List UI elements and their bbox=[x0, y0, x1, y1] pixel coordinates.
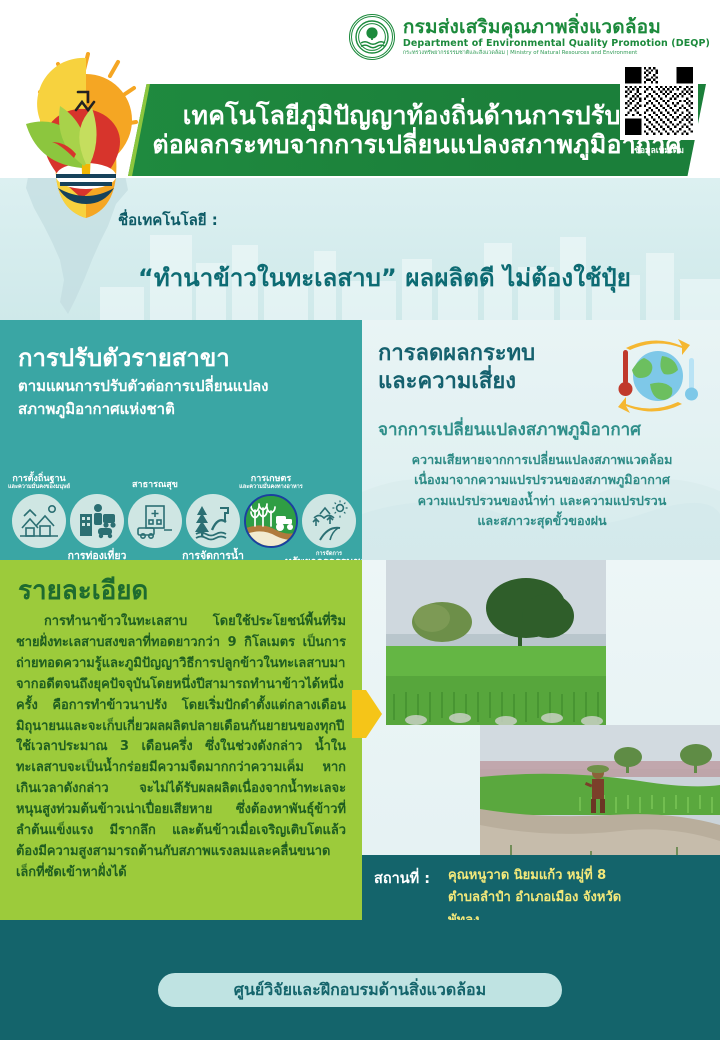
hospital-ambulance-icon bbox=[128, 494, 182, 548]
sector-panel-subheading: ตามแผนการปรับตัวต่อการเปลี่ยนแปลง สภาพภู… bbox=[18, 375, 348, 422]
pointer-arrow-icon bbox=[352, 690, 382, 738]
org-name-english: Department of Environmental Quality Prom… bbox=[403, 39, 710, 49]
sector-item-natural-resources[interactable]: การจัดการ ทรัพยากรธรรมชาติ bbox=[302, 494, 356, 548]
details-paragraph: การทำนาข้าวในทะเลสาบ โดยใช้ประโยชน์พื้นท… bbox=[16, 612, 346, 884]
deqp-tree-water-seal-icon bbox=[349, 14, 395, 60]
natural-resources-icon bbox=[302, 494, 356, 548]
village-settlement-icon bbox=[12, 494, 66, 548]
sector-adaptation-panel: การปรับตัวรายสาขา ตามแผนการปรับตัวต่อการ… bbox=[0, 320, 362, 560]
mitigation-body-line3: ความแปรปรวนของน้ำท่า และความแปรปรวน bbox=[372, 491, 712, 511]
mitigation-heading: การลดผลกระทบ และความเสี่ยง bbox=[378, 340, 588, 395]
city-tourism-icon bbox=[70, 494, 124, 548]
poster-root: กรมส่งเสริมคุณภาพสิ่งแวดล้อม Department … bbox=[0, 0, 720, 1040]
sector-label-public-health: สาธารณสุข bbox=[132, 480, 178, 490]
mitigation-body-text: ความเสียหายจากการเปลี่ยนแปลงสภาพแวดล้อม … bbox=[372, 450, 712, 532]
sector-label-water-management: การจัดการน้ำ bbox=[182, 551, 244, 560]
footer-organization-pill: ศูนย์วิจัยและฝึกอบรมด้านสิ่งแวดล้อม bbox=[158, 973, 562, 1007]
mitigation-subheading: จากการเปลี่ยนแปลงสภาพภูมิอากาศ bbox=[378, 416, 641, 443]
main-title-line2: ต่อผลกระทบจากการเปลี่ยนแปลงสภาพภูมิอากาศ bbox=[152, 130, 681, 160]
qr-caption: ข้อมูลเพิ่มเติม bbox=[620, 143, 698, 157]
details-panel: รายละเอียด การทำนาข้าวในทะเลสาบ โดยใช้ปร… bbox=[0, 560, 362, 920]
blue-thermometer bbox=[685, 358, 698, 401]
sector-item-settlement[interactable]: การตั้งถิ่นฐาน และความมั่นคงของมนุษย์ bbox=[12, 494, 66, 548]
main-title-line1: เทคโนโลยีภูมิปัญญาท้องถิ่นด้านการปรับตัว bbox=[183, 101, 651, 131]
qr-code-icon[interactable] bbox=[620, 62, 698, 140]
org-name-thai: กรมส่งเสริมคุณภาพสิ่งแวดล้อม bbox=[403, 18, 710, 38]
sector-label-agriculture: การเกษตร และความมั่นคงทางอาหาร bbox=[239, 474, 303, 490]
sector-item-tourism[interactable]: การท่องเที่ยว bbox=[70, 494, 124, 548]
sector-label-settlement: การตั้งถิ่นฐาน และความมั่นคงของมนุษย์ bbox=[8, 474, 70, 490]
agriculture-farm-icon bbox=[244, 494, 298, 548]
deqp-logo-text: กรมส่งเสริมคุณภาพสิ่งแวดล้อม Department … bbox=[403, 18, 710, 57]
mitigation-heading-line1: การลดผลกระทบ bbox=[378, 341, 535, 366]
mitigation-body-line2: เนื่องมาจากความแปรปรวนของสภาพภูมิอากาศ bbox=[372, 470, 712, 490]
sector-icon-strip: การตั้งถิ่นฐาน และความมั่นคงของมนุษย์ bbox=[8, 468, 360, 554]
footer-band: ศูนย์วิจัยและฝึกอบรมด้านสิ่งแวดล้อม bbox=[0, 920, 720, 1040]
footer-organization-label: ศูนย์วิจัยและฝึกอบรมด้านสิ่งแวดล้อม bbox=[234, 978, 486, 1003]
technology-name: “ทำนาข้าวในทะเลสาบ” ผลผลิตดี ไม่ต้องใช้ป… bbox=[138, 258, 631, 297]
sector-item-public-health[interactable]: สาธารณสุข bbox=[128, 494, 182, 548]
water-management-icon bbox=[186, 494, 240, 548]
red-thermometer bbox=[619, 350, 633, 396]
deqp-logo: กรมส่งเสริมคุณภาพสิ่งแวดล้อม Department … bbox=[349, 14, 710, 60]
location-label: สถานที่ : bbox=[374, 867, 430, 890]
sector-panel-sub-line2: สภาพภูมิอากาศแห่งชาติ bbox=[18, 398, 348, 421]
lightbulb-leaf-map-pin-icon bbox=[14, 48, 154, 223]
rice-field-lake-photo bbox=[386, 560, 606, 725]
sector-item-water-management[interactable]: การจัดการน้ำ bbox=[186, 494, 240, 548]
sector-panel-heading: การปรับตัวรายสาขา bbox=[18, 338, 230, 377]
globe-thermometer-icon bbox=[596, 334, 706, 420]
mitigation-risk-panel: การลดผลกระทบ และความเสี่ยง จากการเปลี่ยน… bbox=[362, 320, 720, 560]
sector-label-natural-resources: การจัดการ ทรัพยากรธรรมชาติ bbox=[285, 551, 362, 560]
org-ministry-line: กระทรวงทรัพยากรธรรมชาติและสิ่งแวดล้อม | … bbox=[403, 51, 710, 57]
details-heading: รายละเอียด bbox=[18, 570, 148, 611]
mitigation-body-line1: ความเสียหายจากการเปลี่ยนแปลงสภาพแวดล้อม bbox=[372, 450, 712, 470]
sector-label-tourism: การท่องเที่ยว bbox=[68, 551, 127, 560]
sector-item-agriculture[interactable]: การเกษตร และความมั่นคงทางอาหาร bbox=[244, 494, 298, 548]
mitigation-body-line4: และสภาวะสุดขั้วของฝน bbox=[372, 511, 712, 531]
location-line1: คุณหนูวาด นิยมแก้ว หมู่ที่ 8 bbox=[448, 865, 628, 887]
sector-panel-sub-line1: ตามแผนการปรับตัวต่อการเปลี่ยนแปลง bbox=[18, 375, 348, 398]
mitigation-heading-line2: และความเสี่ยง bbox=[378, 369, 516, 394]
